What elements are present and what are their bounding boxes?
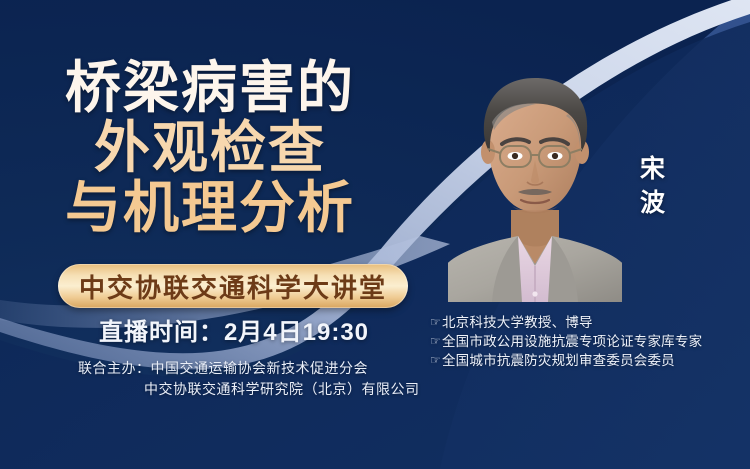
broadcast-time: 直播时间：2月4日19:30	[0, 312, 468, 347]
speaker-credentials: ☞ 北京科技大学教授、博导 ☞ 全国市政公用设施抗震专项论证专家库专家 ☞ 全国…	[430, 313, 742, 370]
credential-text: 全国城市抗震防灾规划审查委员会委员	[442, 351, 675, 370]
credential-row: ☞ 北京科技大学教授、博导	[430, 313, 742, 332]
title-line-1: 桥梁病害的	[0, 60, 420, 116]
series-badge: 中交协联交通科学大讲堂	[58, 264, 408, 308]
title-line-2: 外观检查	[0, 120, 420, 176]
speaker-portrait-image	[448, 60, 622, 302]
speaker-name: 宋波	[630, 152, 676, 220]
title-line-3: 与机理分析	[0, 180, 420, 236]
credential-text: 全国市政公用设施抗震专项论证专家库专家	[442, 332, 702, 351]
organizer-line-2: 中交协联交通科学研究院（北京）有限公司	[78, 379, 438, 400]
pointing-hand-icon: ☞	[430, 332, 441, 351]
webinar-poster: 桥梁病害的 外观检查 与机理分析 中交协联交通科学大讲堂 直播时间：2月4日19…	[0, 0, 750, 469]
credential-row: ☞ 全国市政公用设施抗震专项论证专家库专家	[430, 332, 742, 351]
organizer-line-1: 联合主办：中国交通运输协会新技术促进分会	[78, 358, 438, 379]
poster-title: 桥梁病害的 外观检查 与机理分析	[0, 60, 420, 236]
series-badge-label: 中交协联交通科学大讲堂	[79, 268, 387, 305]
pointing-hand-icon: ☞	[430, 351, 441, 370]
speaker-portrait	[448, 60, 622, 302]
organizers-block: 联合主办：中国交通运输协会新技术促进分会 中交协联交通科学研究院（北京）有限公司	[78, 358, 438, 400]
credential-text: 北京科技大学教授、博导	[442, 313, 593, 332]
credential-row: ☞ 全国城市抗震防灾规划审查委员会委员	[430, 351, 742, 370]
pointing-hand-icon: ☞	[430, 313, 441, 332]
